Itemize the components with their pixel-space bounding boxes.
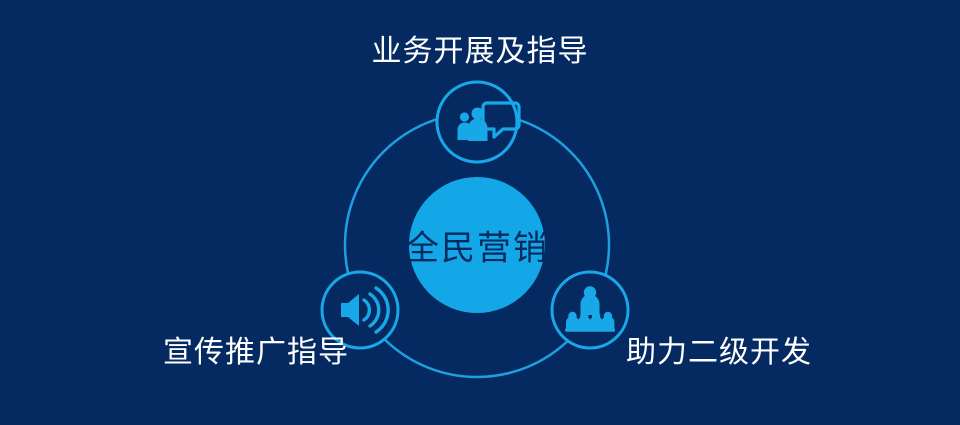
node-label-bottom-right: 助力二级开发 xyxy=(626,338,812,368)
infographic-stage: 全民营销 业务开展及指导 宣传推广指导 助力二级开发 xyxy=(0,0,960,425)
center-hub-label: 全民营销 xyxy=(405,221,549,270)
node-label-top: 业务开展及指导 xyxy=(372,37,589,67)
node-top-group[interactable] xyxy=(437,82,519,162)
node-bottom-right-group[interactable] xyxy=(552,272,628,348)
node-label-bottom-left: 宣传推广指导 xyxy=(163,338,349,368)
